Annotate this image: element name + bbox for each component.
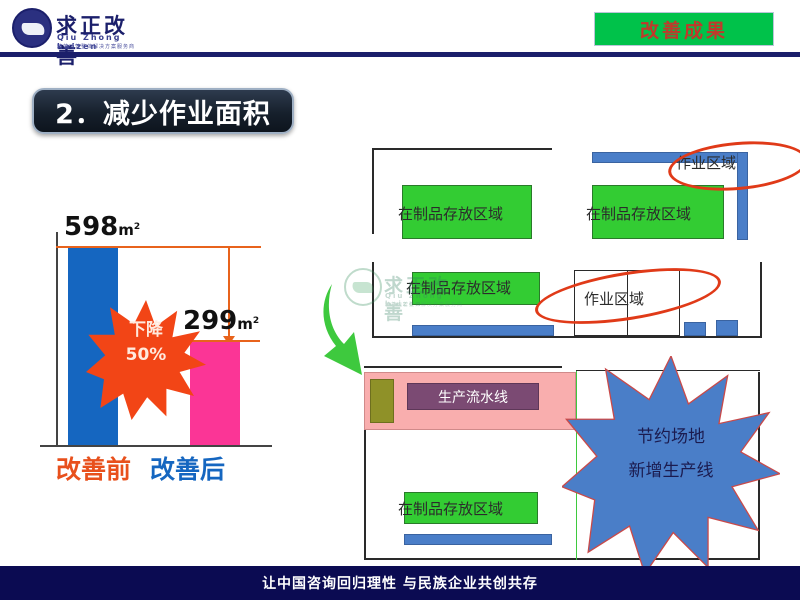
savings-line-2: 新增生产线 <box>572 454 770 488</box>
chart-y-axis <box>56 232 58 447</box>
before-left-wip-label: 在制品存放区域 <box>398 203 503 224</box>
logo-tagline: 精益运营整体解决方案服务商 <box>57 43 135 50</box>
slide-canvas: 求正改善 Qiu Zhong kaizen 精益运营整体解决方案服务商 改善成果… <box>0 0 800 600</box>
mid-floor-wall <box>372 336 762 338</box>
chart-value-label-before: 598m2 <box>64 212 140 242</box>
chart-x-axis <box>40 445 272 447</box>
footer-bar: 让中国咨询回归理性 与民族企业共创共存 <box>0 566 800 600</box>
after-production-line-label: 生产流水线 <box>438 387 508 407</box>
page-title: 2．减少作业面积 <box>32 88 294 134</box>
logo-mark-icon <box>12 8 52 48</box>
section-banner: 改善成果 <box>594 12 774 46</box>
savings-line-1: 节约场地 <box>572 420 770 454</box>
reduction-annotation: 下降 50% <box>86 318 206 367</box>
header-divider <box>0 52 800 57</box>
after-conveyor-strip <box>404 534 552 545</box>
reduction-line-1: 下降 <box>86 318 206 343</box>
mid-right-wall <box>760 262 762 338</box>
page-title-label: 2．减少作业面积 <box>55 92 271 131</box>
mid-station-2 <box>716 320 738 336</box>
transition-arrow-icon <box>322 282 392 377</box>
section-banner-label: 改善成果 <box>640 16 728 43</box>
mid-conveyor-strip <box>412 325 554 336</box>
mid-station-1 <box>684 322 706 336</box>
chart-category-label-before: 改善前 <box>56 450 131 486</box>
savings-annotation: 节约场地 新增生产线 <box>572 420 770 488</box>
chart-unit-after: m2 <box>237 315 259 333</box>
after-top-wall <box>364 366 562 368</box>
chart-category-label-after: 改善后 <box>150 450 225 486</box>
before-right-wip-label: 在制品存放区域 <box>586 203 691 224</box>
company-logo: 求正改善 Qiu Zhong kaizen 精益运营整体解决方案服务商 <box>12 6 142 50</box>
after-wip-label: 在制品存放区域 <box>398 498 503 519</box>
footer-slogan: 让中国咨询回归理性 与民族企业共创共存 <box>262 573 538 593</box>
bar-chart: 598m2 299m2 改善前 改善后 下降 50% <box>28 210 278 485</box>
chart-unit-before: m2 <box>118 221 140 239</box>
after-production-line-box: 生产流水线 <box>407 383 539 410</box>
after-equipment-block <box>370 379 394 423</box>
before-left-wall-top <box>372 148 552 150</box>
before-left-wall-side <box>372 148 374 234</box>
reduction-line-2: 50% <box>86 343 206 368</box>
watermark-tagline: 精益运营整体解决方案服务商 <box>385 301 463 308</box>
chart-value-before: 598 <box>64 212 118 242</box>
